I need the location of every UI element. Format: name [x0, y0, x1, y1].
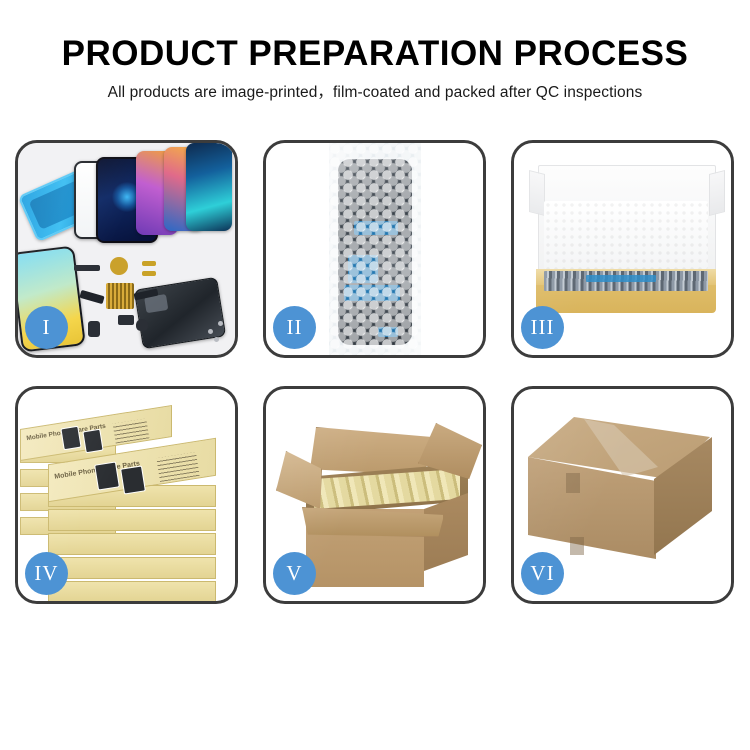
step-badge-1: I — [25, 306, 68, 349]
stacked-box-front-2 — [48, 509, 216, 531]
wrapped-product-in-box — [544, 271, 708, 291]
box-screen-swatch-2 — [82, 429, 103, 454]
ic-chip-part — [106, 283, 134, 309]
step-panel-2[interactable]: II — [263, 140, 486, 358]
page-title: PRODUCT PREPARATION PROCESS — [0, 34, 750, 74]
stacked-box-front-4 — [48, 557, 216, 579]
step-badge-4: IV — [25, 552, 68, 595]
step-panel-1[interactable]: I — [15, 140, 238, 358]
step-badge-6: VI — [521, 552, 564, 595]
step-panel-6[interactable]: VI — [511, 386, 734, 604]
battery-connector-part — [88, 321, 100, 337]
step-badge-5: V — [273, 552, 316, 595]
box-screen-swatch-3 — [94, 461, 120, 490]
bubble-wrap-sleeve — [329, 143, 421, 355]
page-subtitle: All products are image-printed，film-coat… — [0, 83, 750, 103]
carton-seam-top — [566, 473, 580, 493]
vibrator-part — [136, 319, 148, 331]
carton-seam-bottom — [570, 537, 584, 555]
step-badge-3: III — [521, 306, 564, 349]
stacked-box-front-5 — [48, 581, 216, 601]
steps-grid: I II — [15, 140, 735, 604]
step-panel-5[interactable]: V — [263, 386, 486, 604]
speaker-part — [118, 315, 134, 325]
screw-part-3 — [214, 337, 219, 342]
screw-part-2 — [218, 321, 223, 326]
step-panel-3[interactable]: III — [511, 140, 734, 358]
step-badge-2: II — [273, 306, 316, 349]
gold-connector-part-2 — [142, 271, 156, 276]
step-panel-4[interactable]: Mobile Phone Spare Parts Mobile Phone Sp… — [15, 386, 238, 604]
stacked-box-front-3 — [48, 533, 216, 555]
foam-insert — [544, 201, 708, 269]
camera-lens-part — [110, 257, 128, 275]
earpiece-part — [74, 265, 100, 271]
header: PRODUCT PREPARATION PROCESS All products… — [0, 0, 750, 103]
screw-part — [208, 329, 213, 334]
box-screen-swatch-4 — [120, 465, 146, 494]
box-screen-swatch-1 — [60, 426, 81, 451]
gold-connector-part — [142, 261, 156, 266]
bubble-texture-overlay — [329, 143, 421, 355]
teal-wave-phone — [186, 143, 232, 231]
